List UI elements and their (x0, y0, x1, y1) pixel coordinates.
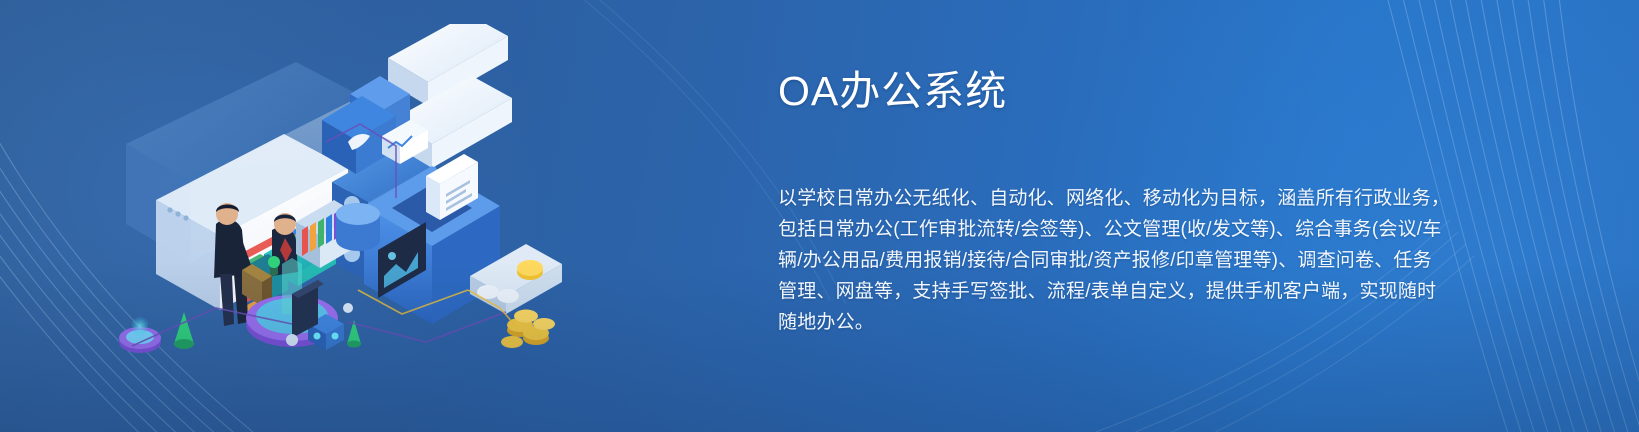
banner-description: 以学校日常办公无纸化、自动化、网络化、移动化为目标，涵盖所有行政业务， 包括日常… (778, 183, 1468, 338)
banner-content: OA办公系统 以学校日常办公无纸化、自动化、网络化、移动化为目标，涵盖所有行政业… (778, 66, 1478, 338)
description-line-4: 管理、网盘等，支持手写签批、流程/表单自定义，提供手机客户端，实现随时 (778, 276, 1468, 307)
description-line-2: 包括日常办公(工作审批流转/会签等)、公文管理(收/发文等)、综合事务(会议/车 (778, 214, 1468, 245)
oa-system-banner: OA办公系统 以学校日常办公无纸化、自动化、网络化、移动化为目标，涵盖所有行政业… (0, 0, 1639, 432)
description-line-3: 辆/办公用品/费用报销/接待/合同审批/资产报修/印章管理等)、调查问卷、任务 (778, 245, 1468, 276)
description-line-5: 随地办公。 (778, 307, 1468, 338)
page-title: OA办公系统 (778, 66, 1478, 117)
description-line-1: 以学校日常办公无纸化、自动化、网络化、移动化为目标，涵盖所有行政业务， (778, 183, 1468, 214)
office-automation-illustration (96, 24, 566, 394)
database-cylinder (336, 203, 380, 251)
